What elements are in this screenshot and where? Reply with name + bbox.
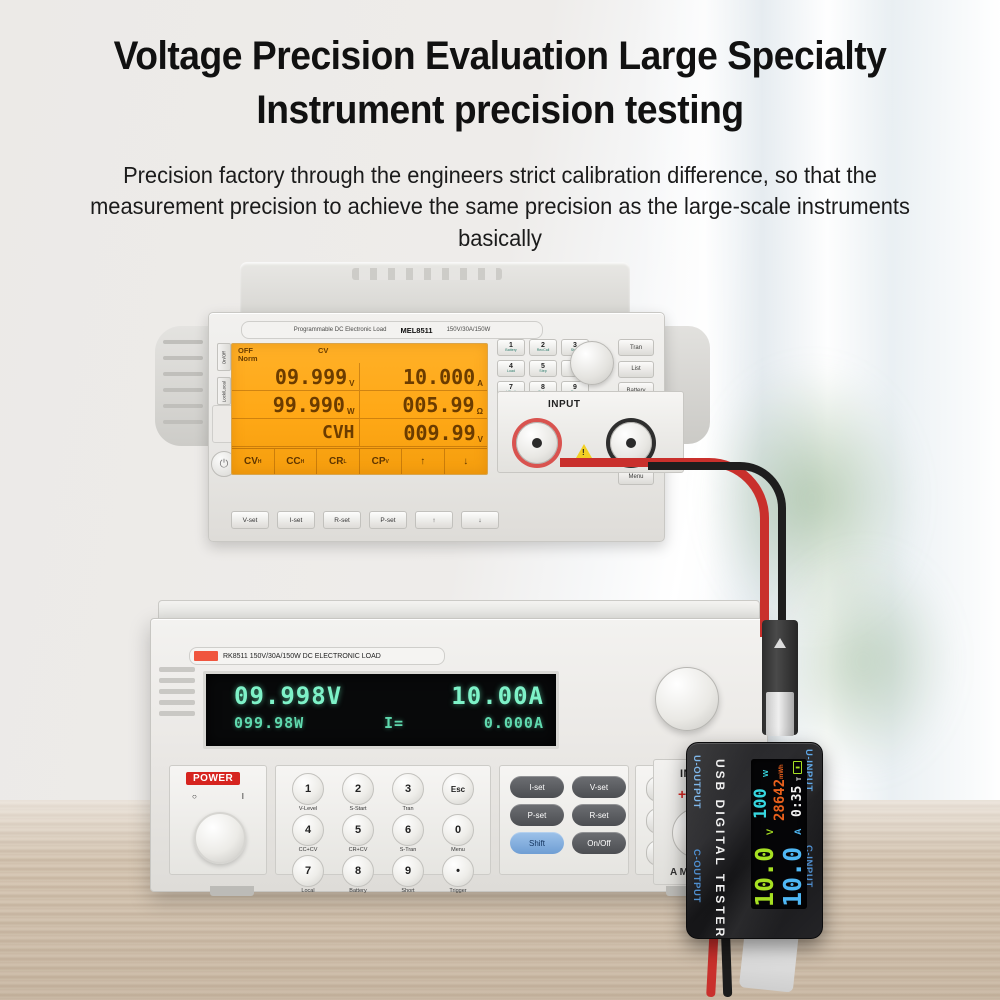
usb-metal-shell (766, 692, 794, 736)
instrument2-vents (159, 667, 195, 731)
softkey-cv-label: CV (244, 456, 258, 467)
function-button-grid: I-set V-set P-set R-set Shift On/Off (510, 776, 626, 854)
softkey-cv-sub: H (258, 459, 262, 465)
lcd-display: OFF Norm CV 09.999 V 10.000 A 99.990 (231, 343, 488, 475)
key-dot[interactable]: • (442, 855, 474, 887)
vfd-power: 099.98W (234, 714, 304, 732)
key-4[interactable]: 4Load (497, 360, 525, 377)
vset-button[interactable]: V-set (231, 511, 269, 529)
lcd-readout-grid: 09.999 V 10.000 A 99.990 W 005.99 Ω (232, 363, 487, 447)
softkey-cc-sub: H (301, 459, 305, 465)
up-arrow-icon[interactable]: ↑ (415, 511, 453, 529)
power-io-marks: ○ I (192, 792, 244, 801)
vfd-current-set-label: I= (384, 714, 404, 732)
tester-screen: 10.0 V 10.0 A 100 W 28642 mWh 0:35 T ▮ (751, 759, 807, 909)
key-cell-1[interactable]: 1V-Level (284, 773, 332, 812)
tester-screen-content: 10.0 V 10.0 A 100 W 28642 mWh 0:35 T ▮ (751, 759, 807, 909)
lcd-power-unit: W (347, 407, 355, 418)
key-8[interactable]: 8 (342, 855, 374, 887)
input-label: INPUT (548, 399, 581, 410)
pset-button[interactable]: P-set (510, 804, 564, 826)
vfd-primary-row: 09.998V 10.00A (234, 682, 544, 710)
positive-terminal[interactable] (516, 422, 558, 464)
instrument2-brand-text: RK8511 150V/30A/150W DC ELECTRONIC LOAD (223, 653, 381, 660)
instrument2-keypad: 1V-Level 2S-Start 3Tran Esc 4CC+CV 5CR+C… (275, 765, 491, 875)
vfd-display: 09.998V 10.00A 099.98W I= 0.000A (203, 671, 559, 749)
model-nameplate: Programmable DC Electronic Load MEL8511 … (241, 321, 543, 339)
rset-button[interactable]: R-set (572, 804, 626, 826)
lcd-setpoint-unit: V (478, 435, 483, 446)
lcd-mode-cell: CVH (232, 419, 360, 447)
vfd-current-set: 0.000A (484, 714, 544, 732)
key-esc[interactable]: Esc (442, 773, 474, 805)
page-subtitle: Precision factory through the engineers … (73, 160, 928, 254)
key-cell-esc[interactable]: Esc (434, 773, 482, 812)
status-norm: Norm (238, 354, 258, 363)
pset-button[interactable]: P-set (369, 511, 407, 529)
softkey-cv[interactable]: CVH (232, 449, 275, 474)
softkey-down-label: ↓ (463, 456, 468, 467)
lcd-resistance-cell: 005.99 Ω (360, 391, 488, 419)
lcd-setpoint-cell: 009.99 V (360, 419, 488, 447)
softkey-cp-sub: V (386, 459, 389, 465)
lcd-setpoint-value: 009.99 (403, 423, 475, 443)
key-3[interactable]: 3 (392, 773, 424, 805)
lcd-voltage-cell: 09.999 V (232, 363, 360, 391)
lcd-voltage-unit: V (349, 379, 354, 390)
key-2-sub: RecCall (537, 349, 550, 353)
vfd-voltage: 09.998V (234, 682, 342, 710)
tester-power-value: 100 (753, 788, 770, 819)
setting-button-row: V-set I-set R-set P-set ↑ ↓ (231, 511, 499, 529)
function-button-group: I-set V-set P-set R-set Shift On/Off (499, 765, 629, 875)
lcd-resistance-unit: Ω (477, 407, 483, 418)
tester-left-edge: U-OUTPUT C-OUTPUT (690, 753, 706, 928)
vfd-secondary-row: 099.98W I= 0.000A (234, 714, 544, 732)
label-u-output: U-OUTPUT (691, 755, 702, 809)
tester-current-unit: A (793, 829, 803, 836)
status-mode: CV (318, 346, 328, 355)
softkey-down-arrow-icon[interactable]: ↓ (445, 449, 488, 474)
lcd-power-cell: 99.990 W (232, 391, 360, 419)
list-button[interactable]: List (618, 361, 654, 378)
key-1-caption: V-Level (299, 806, 317, 812)
tester-brand-label: USB DIGITAL TESTER (713, 759, 727, 939)
key-2[interactable]: 2 (342, 773, 374, 805)
positive-mark: + (678, 786, 686, 802)
product-marketing-image: Voltage Precision Evaluation Large Speci… (0, 0, 1000, 1000)
lcd-softkey-row: CVH CCH CRL CPV ↑ ↓ (232, 448, 487, 474)
key-2-caption: S-Start (349, 806, 366, 812)
key-4[interactable]: 4 (292, 814, 324, 846)
power-group: POWER ○ I (169, 765, 267, 875)
power-label: POWER (186, 772, 240, 785)
tran-button[interactable]: Tran (618, 339, 654, 356)
down-arrow-icon[interactable]: ↓ (461, 511, 499, 529)
onoff-label: On/Off (221, 345, 227, 371)
usb-digital-tester: U-OUTPUT C-OUTPUT USB DIGITAL TESTER U-I… (686, 742, 823, 939)
instrument2-feet (210, 886, 710, 896)
iset-button[interactable]: I-set (510, 776, 564, 798)
tester-energy-value: 28642 (773, 779, 787, 821)
usb-logo-icon (774, 638, 786, 648)
key-cell-2[interactable]: 2S-Start (334, 773, 382, 812)
lock-local-label: Lock/Local (221, 379, 227, 405)
key-4-sub: Load (507, 370, 515, 374)
left-side-panel (155, 326, 213, 446)
key-0[interactable]: 0 (442, 814, 474, 846)
lcd-power-value: 99.990 (273, 395, 345, 415)
softkey-cc-label: CC (286, 456, 300, 467)
label-c-output: C-OUTPUT (691, 849, 702, 903)
key-5-sub: Step (539, 370, 546, 374)
tester-time-unit: T (796, 777, 803, 781)
vfd-current: 10.00A (451, 682, 544, 710)
lcd-resistance-value: 005.99 (402, 395, 474, 415)
tester-secondary-column: 100 W 28642 mWh 0:35 T ▮ (751, 759, 807, 821)
tester-energy-unit: mWh (779, 764, 785, 779)
softkey-cr[interactable]: CRL (317, 449, 360, 474)
key-cell-5[interactable]: 5CR+CV (334, 814, 382, 853)
tester-primary-column: 10.0 V 10.0 A (751, 821, 807, 909)
key-6[interactable]: 6 (392, 814, 424, 846)
shift-button[interactable]: Shift (510, 832, 564, 854)
key-1[interactable]: 1Battery (497, 339, 525, 356)
vset-button[interactable]: V-set (572, 776, 626, 798)
key-6-caption: S-Tran (400, 847, 417, 853)
battery-icon: ▮ (793, 761, 802, 774)
model-number: MEL8511 (400, 326, 432, 335)
tester-time-value: 0:35 (791, 786, 804, 817)
lcd-current-value: 10.000 (403, 367, 475, 387)
lock-local-button[interactable]: Lock/Local (217, 377, 231, 405)
softkey-cr-label: CR (329, 456, 343, 467)
key-cell-4[interactable]: 4CC+CV (284, 814, 332, 853)
lcd-mode-text: CVH (322, 424, 355, 442)
page-title: Voltage Precision Evaluation Large Speci… (35, 30, 965, 137)
tester-current-value: 10.0 (780, 847, 805, 907)
key-3-caption: Tran (402, 806, 413, 812)
key-5-caption: CR+CV (349, 847, 368, 853)
softkey-cp-label: CP (372, 456, 386, 467)
tester-voltage-unit: V (765, 829, 775, 835)
key-4-caption: CC+CV (299, 847, 318, 853)
softkey-up-label: ↑ (420, 456, 425, 467)
lcd-current-cell: 10.000 A (360, 363, 488, 391)
rotary-knob[interactable] (570, 341, 614, 385)
tester-power-unit: W (761, 770, 770, 777)
lcd-voltage-value: 09.999 (275, 367, 347, 387)
softkey-cp[interactable]: CPV (360, 449, 403, 474)
warning-triangle-icon (576, 444, 592, 458)
instrument2-rotary-knob[interactable] (655, 667, 719, 731)
key-9[interactable]: 9 (392, 855, 424, 887)
key-1-sub: Battery (505, 349, 516, 353)
key-cell-0[interactable]: 0Menu (434, 814, 482, 853)
onoff-button[interactable]: On/Off (572, 832, 626, 854)
vent-slots (352, 268, 502, 280)
key-cell-6[interactable]: 6S-Tran (384, 814, 432, 853)
black-test-cable (648, 462, 786, 645)
softkey-cc[interactable]: CCH (275, 449, 318, 474)
power-on-icon: I (242, 792, 244, 801)
instrument-rk8511: RK8511 150V/30A/150W DC ELECTRONIC LOAD … (150, 600, 770, 900)
lcd-current-unit: A (477, 379, 483, 390)
key-0-caption: Menu (451, 847, 465, 853)
iset-button[interactable]: I-set (277, 511, 315, 529)
softkey-cr-sub: L (343, 459, 346, 465)
onoff-button[interactable]: On/Off (217, 343, 231, 371)
usb-connector (762, 620, 798, 735)
power-off-icon: ○ (192, 792, 197, 801)
rset-button[interactable]: R-set (323, 511, 361, 529)
instrument2-front-panel: RK8511 150V/30A/150W DC ELECTRONIC LOAD … (150, 618, 768, 892)
instrument2-nameplate: RK8511 150V/30A/150W DC ELECTRONIC LOAD (189, 647, 445, 665)
softkey-up-arrow-icon[interactable]: ↑ (402, 449, 445, 474)
key-5[interactable]: 5 (342, 814, 374, 846)
brand-logo (194, 651, 218, 661)
key-cell-3[interactable]: 3Tran (384, 773, 432, 812)
tester-voltage-value: 10.0 (752, 847, 777, 907)
power-switch[interactable] (194, 812, 246, 864)
key-1[interactable]: 1 (292, 773, 324, 805)
key-7[interactable]: 7 (292, 855, 324, 887)
key-5[interactable]: 5Step (529, 360, 557, 377)
key-2[interactable]: 2RecCall (529, 339, 557, 356)
keypad-grid: 1V-Level 2S-Start 3Tran Esc 4CC+CV 5CR+C… (284, 773, 482, 894)
lcd-status-row: OFF Norm CV (232, 345, 487, 365)
rating-label: 150V/30A/150W (447, 327, 491, 333)
brand-description: Programmable DC Electronic Load (294, 327, 387, 333)
